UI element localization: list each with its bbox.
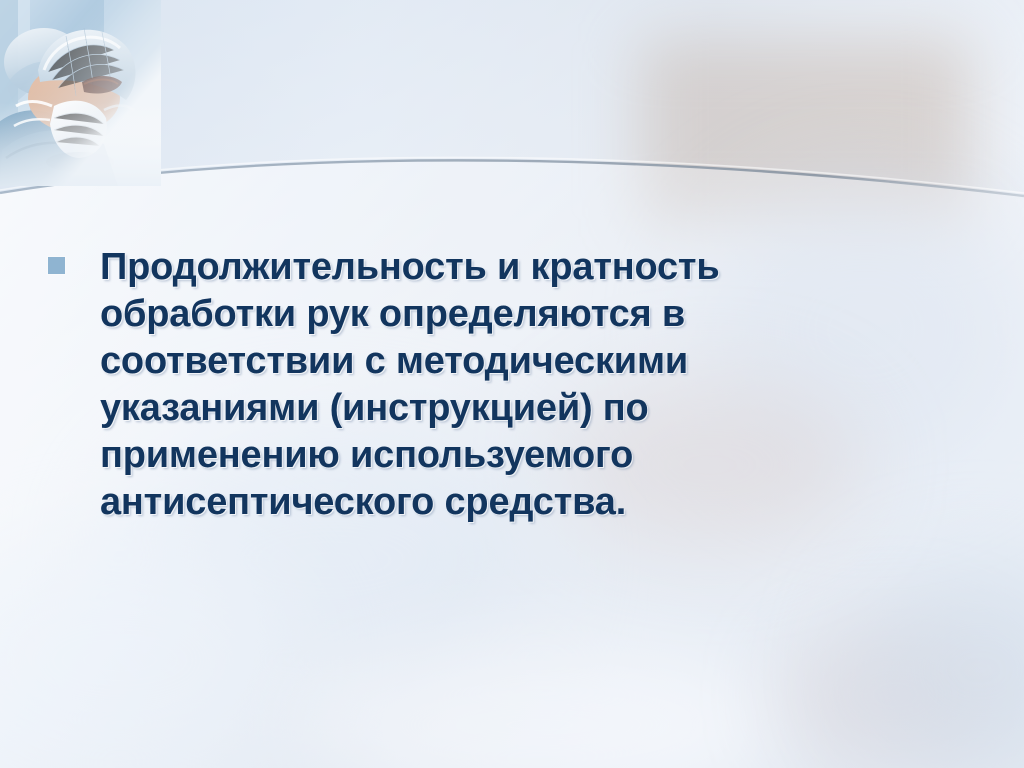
- slide-canvas: Продолжительность и кратность обработки …: [0, 0, 1024, 768]
- surgeons-photo-illustration: [0, 0, 161, 186]
- body-content: Продолжительность и кратность обработки …: [48, 244, 748, 526]
- surgeons-photo-inset: [0, 0, 161, 186]
- bullet-paragraph: Продолжительность и кратность обработки …: [100, 244, 720, 526]
- square-bullet-icon: [48, 257, 65, 274]
